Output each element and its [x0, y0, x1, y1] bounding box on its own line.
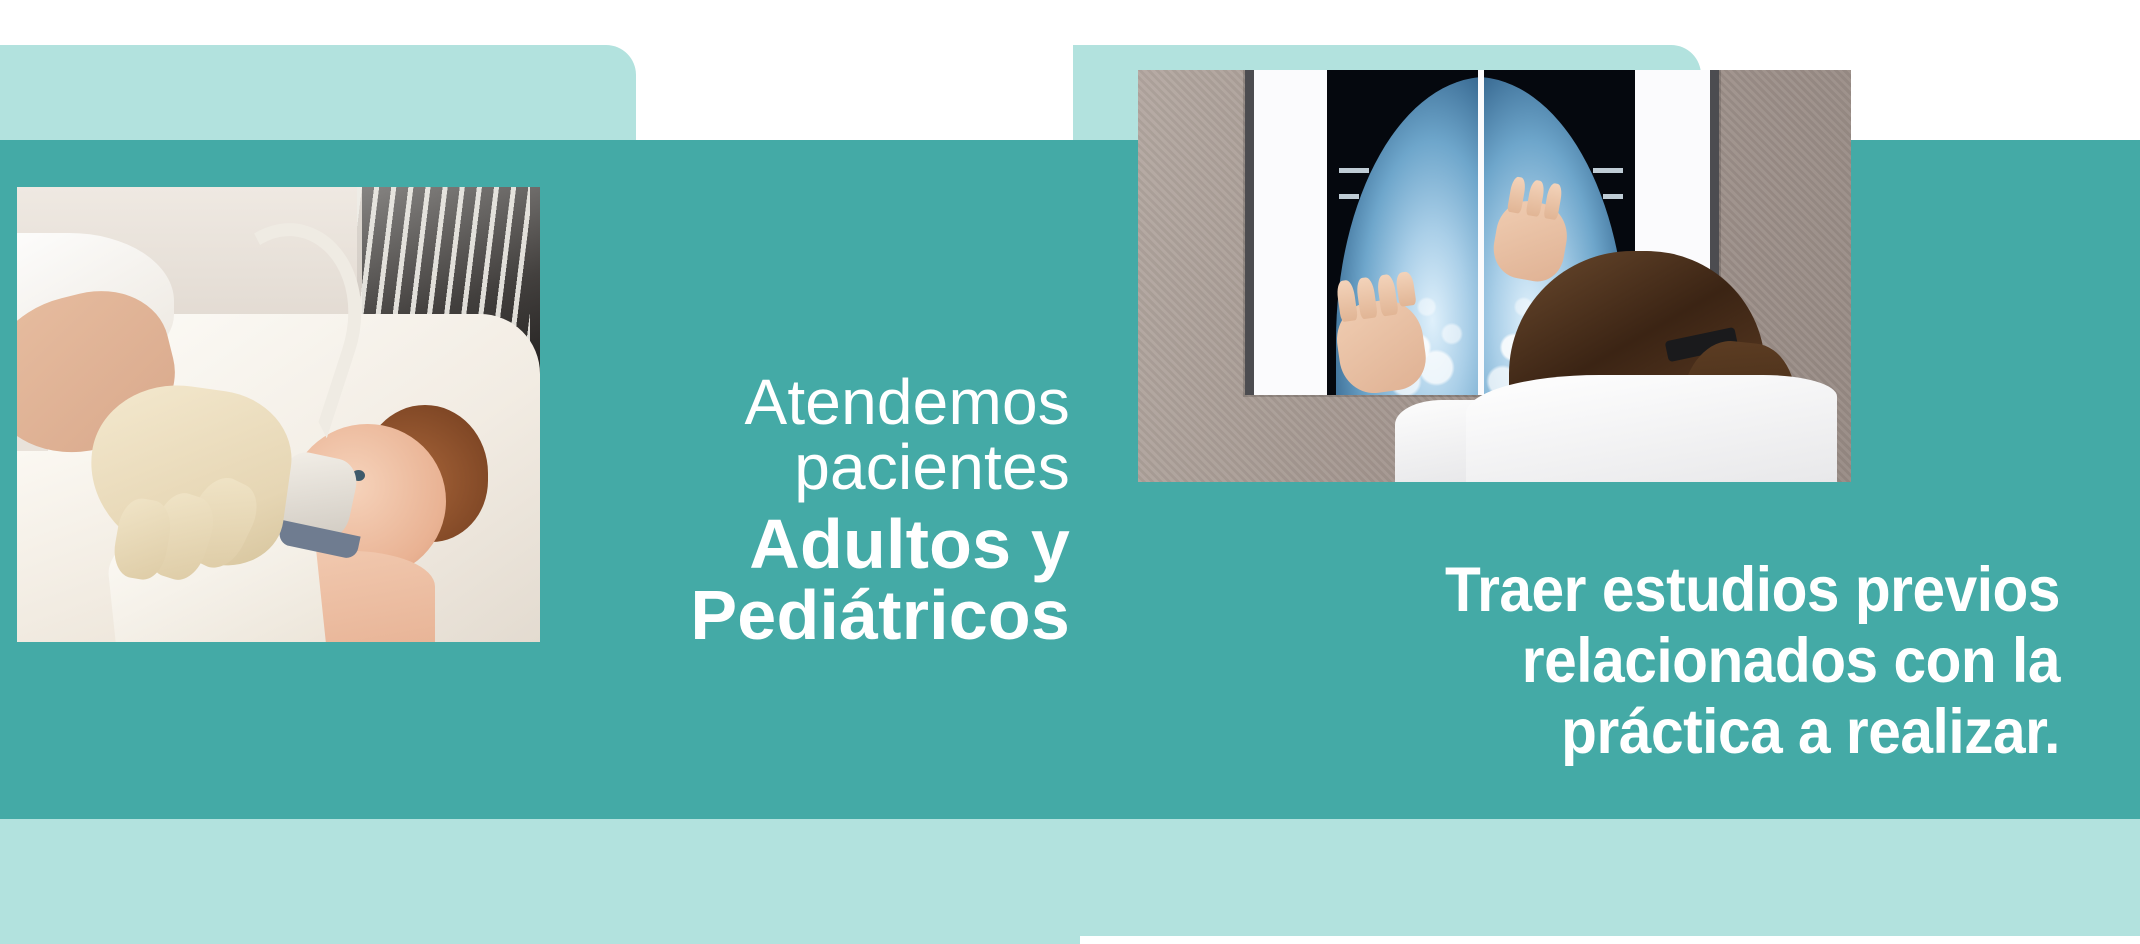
left-headline-line-2: pacientes — [560, 435, 1070, 500]
right-headline-line-2: relacionados con la — [1204, 626, 2060, 697]
photo-film-label-right-1 — [1593, 168, 1623, 173]
photo-radiologist-coat — [1466, 375, 1837, 482]
bottom-teal-band — [0, 819, 2140, 944]
left-headline-line-1: Atendemos — [560, 370, 1070, 435]
left-headline-line-4: Pediátricos — [560, 580, 1070, 651]
bottom-white-strip — [1080, 936, 2140, 944]
mammography-review-photo — [1138, 70, 1851, 482]
right-headline-line-1: Traer estudios previos — [1204, 555, 2060, 626]
photo-film-label-left-1 — [1339, 168, 1369, 173]
photo-film-label-left-2 — [1339, 194, 1359, 199]
left-headline-bold-group: Adultos y Pediátricos — [560, 509, 1070, 652]
infant-ultrasound-photo — [17, 187, 540, 642]
left-headline-line-3: Adultos y — [560, 509, 1070, 580]
photo-film-label-right-2 — [1603, 194, 1623, 199]
banner-canvas: Atendemos pacientes Adultos y Pediátrico… — [0, 0, 2140, 944]
left-message-block: Atendemos pacientes Adultos y Pediátrico… — [560, 370, 1070, 651]
decorative-tab-left — [0, 45, 636, 145]
right-message-block: Traer estudios previos relacionados con … — [1140, 555, 2060, 769]
right-headline-line-3: práctica a realizar. — [1204, 697, 2060, 768]
